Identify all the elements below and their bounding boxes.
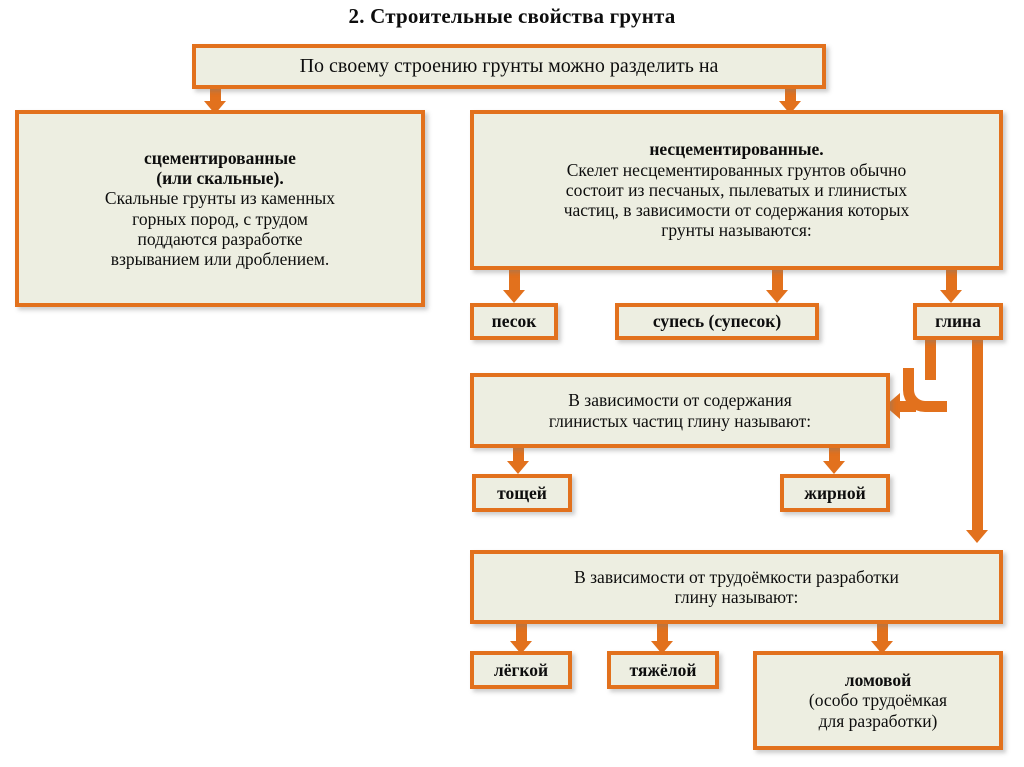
node-clay: глина <box>913 303 1003 340</box>
arrow-uncemented-to-sandy-loam-shaft <box>772 270 783 290</box>
node-sand-text: песок <box>480 311 548 331</box>
arrow-labor-to-heavy-shaft <box>657 624 668 641</box>
arrow-clay-to-labor-shaft <box>972 338 983 530</box>
node-cemented-heading-1: сцементированные <box>25 148 415 168</box>
arrow-labor-to-breaker-shaft <box>877 624 888 641</box>
arrow-clay-to-content-horizontal <box>898 401 916 412</box>
node-lean-clay-text: тощей <box>482 483 562 503</box>
node-clay-content: В зависимости от содержания глинистых ча… <box>470 373 890 448</box>
node-uncemented-body-2: состоит из песчаных, пылеватых и глинист… <box>480 180 993 200</box>
node-cemented-heading-2: (или скальные). <box>25 168 415 188</box>
node-cemented-body-3: поддаются разработке <box>25 229 415 249</box>
node-cemented-body-1: Скальные грунты из каменных <box>25 188 415 208</box>
node-root-text: По своему строению грунты можно разделит… <box>202 55 816 78</box>
node-clay-labor-line-2: глину называют: <box>480 587 993 607</box>
arrow-uncemented-to-sand-shaft <box>509 270 520 290</box>
node-cemented: сцементированные (или скальные). Скальны… <box>15 110 425 307</box>
node-sandy-loam: супесь (супесок) <box>615 303 819 340</box>
arrow-content-to-lean-shaft <box>513 448 524 461</box>
node-clay-text: глина <box>923 311 993 331</box>
page-title: 2. Строительные свойства грунта <box>0 4 1024 29</box>
arrow-uncemented-to-clay-head <box>940 290 962 303</box>
node-sand: песок <box>470 303 558 340</box>
arrow-content-to-fat-head <box>823 461 845 474</box>
node-uncemented-body-1: Скелет несцементированных грунтов обычно <box>480 160 993 180</box>
node-heavy-clay-text: тяжёлой <box>617 660 709 680</box>
node-uncemented-body-3: частиц, в зависимости от содержания кото… <box>480 200 993 220</box>
node-breaker-clay-line-1: ломовой <box>763 670 993 690</box>
node-lean-clay: тощей <box>472 474 572 512</box>
node-fat-clay-text: жирной <box>790 483 880 503</box>
node-fat-clay: жирной <box>780 474 890 512</box>
node-uncemented-body-4: грунты называются: <box>480 220 993 240</box>
arrow-content-to-lean-head <box>507 461 529 474</box>
node-uncemented-heading: несцементированные. <box>480 139 993 159</box>
node-root: По своему строению грунты можно разделит… <box>192 44 826 89</box>
node-uncemented: несцементированные. Скелет несцементиров… <box>470 110 1003 270</box>
node-breaker-clay-line-2: (особо трудоёмкая <box>763 690 993 710</box>
node-clay-labor: В зависимости от трудоёмкости разработки… <box>470 550 1003 624</box>
node-heavy-clay: тяжёлой <box>607 651 719 689</box>
arrow-content-to-fat-shaft <box>829 448 840 461</box>
arrow-labor-to-light-shaft <box>516 624 527 641</box>
node-light-clay: лёгкой <box>470 651 572 689</box>
arrow-uncemented-to-clay-shaft <box>946 270 957 290</box>
node-sandy-loam-text: супесь (супесок) <box>625 311 809 331</box>
arrow-uncemented-to-sandy-loam-head <box>766 290 788 303</box>
node-clay-content-line-1: В зависимости от содержания <box>480 390 880 410</box>
node-clay-content-line-2: глинистых частиц глину называют: <box>480 411 880 431</box>
node-clay-labor-line-1: В зависимости от трудоёмкости разработки <box>480 567 993 587</box>
node-cemented-body-2: горных пород, с трудом <box>25 209 415 229</box>
node-breaker-clay: ломовой (особо трудоёмкая для разработки… <box>753 651 1003 750</box>
node-cemented-body-4: взрыванием или дроблением. <box>25 249 415 269</box>
diagram-canvas: 2. Строительные свойства грунта По своем… <box>0 0 1024 767</box>
node-light-clay-text: лёгкой <box>480 660 562 680</box>
arrow-clay-to-labor-head <box>966 530 988 543</box>
node-breaker-clay-line-3: для разработки) <box>763 711 993 731</box>
arrow-uncemented-to-sand-head <box>503 290 525 303</box>
